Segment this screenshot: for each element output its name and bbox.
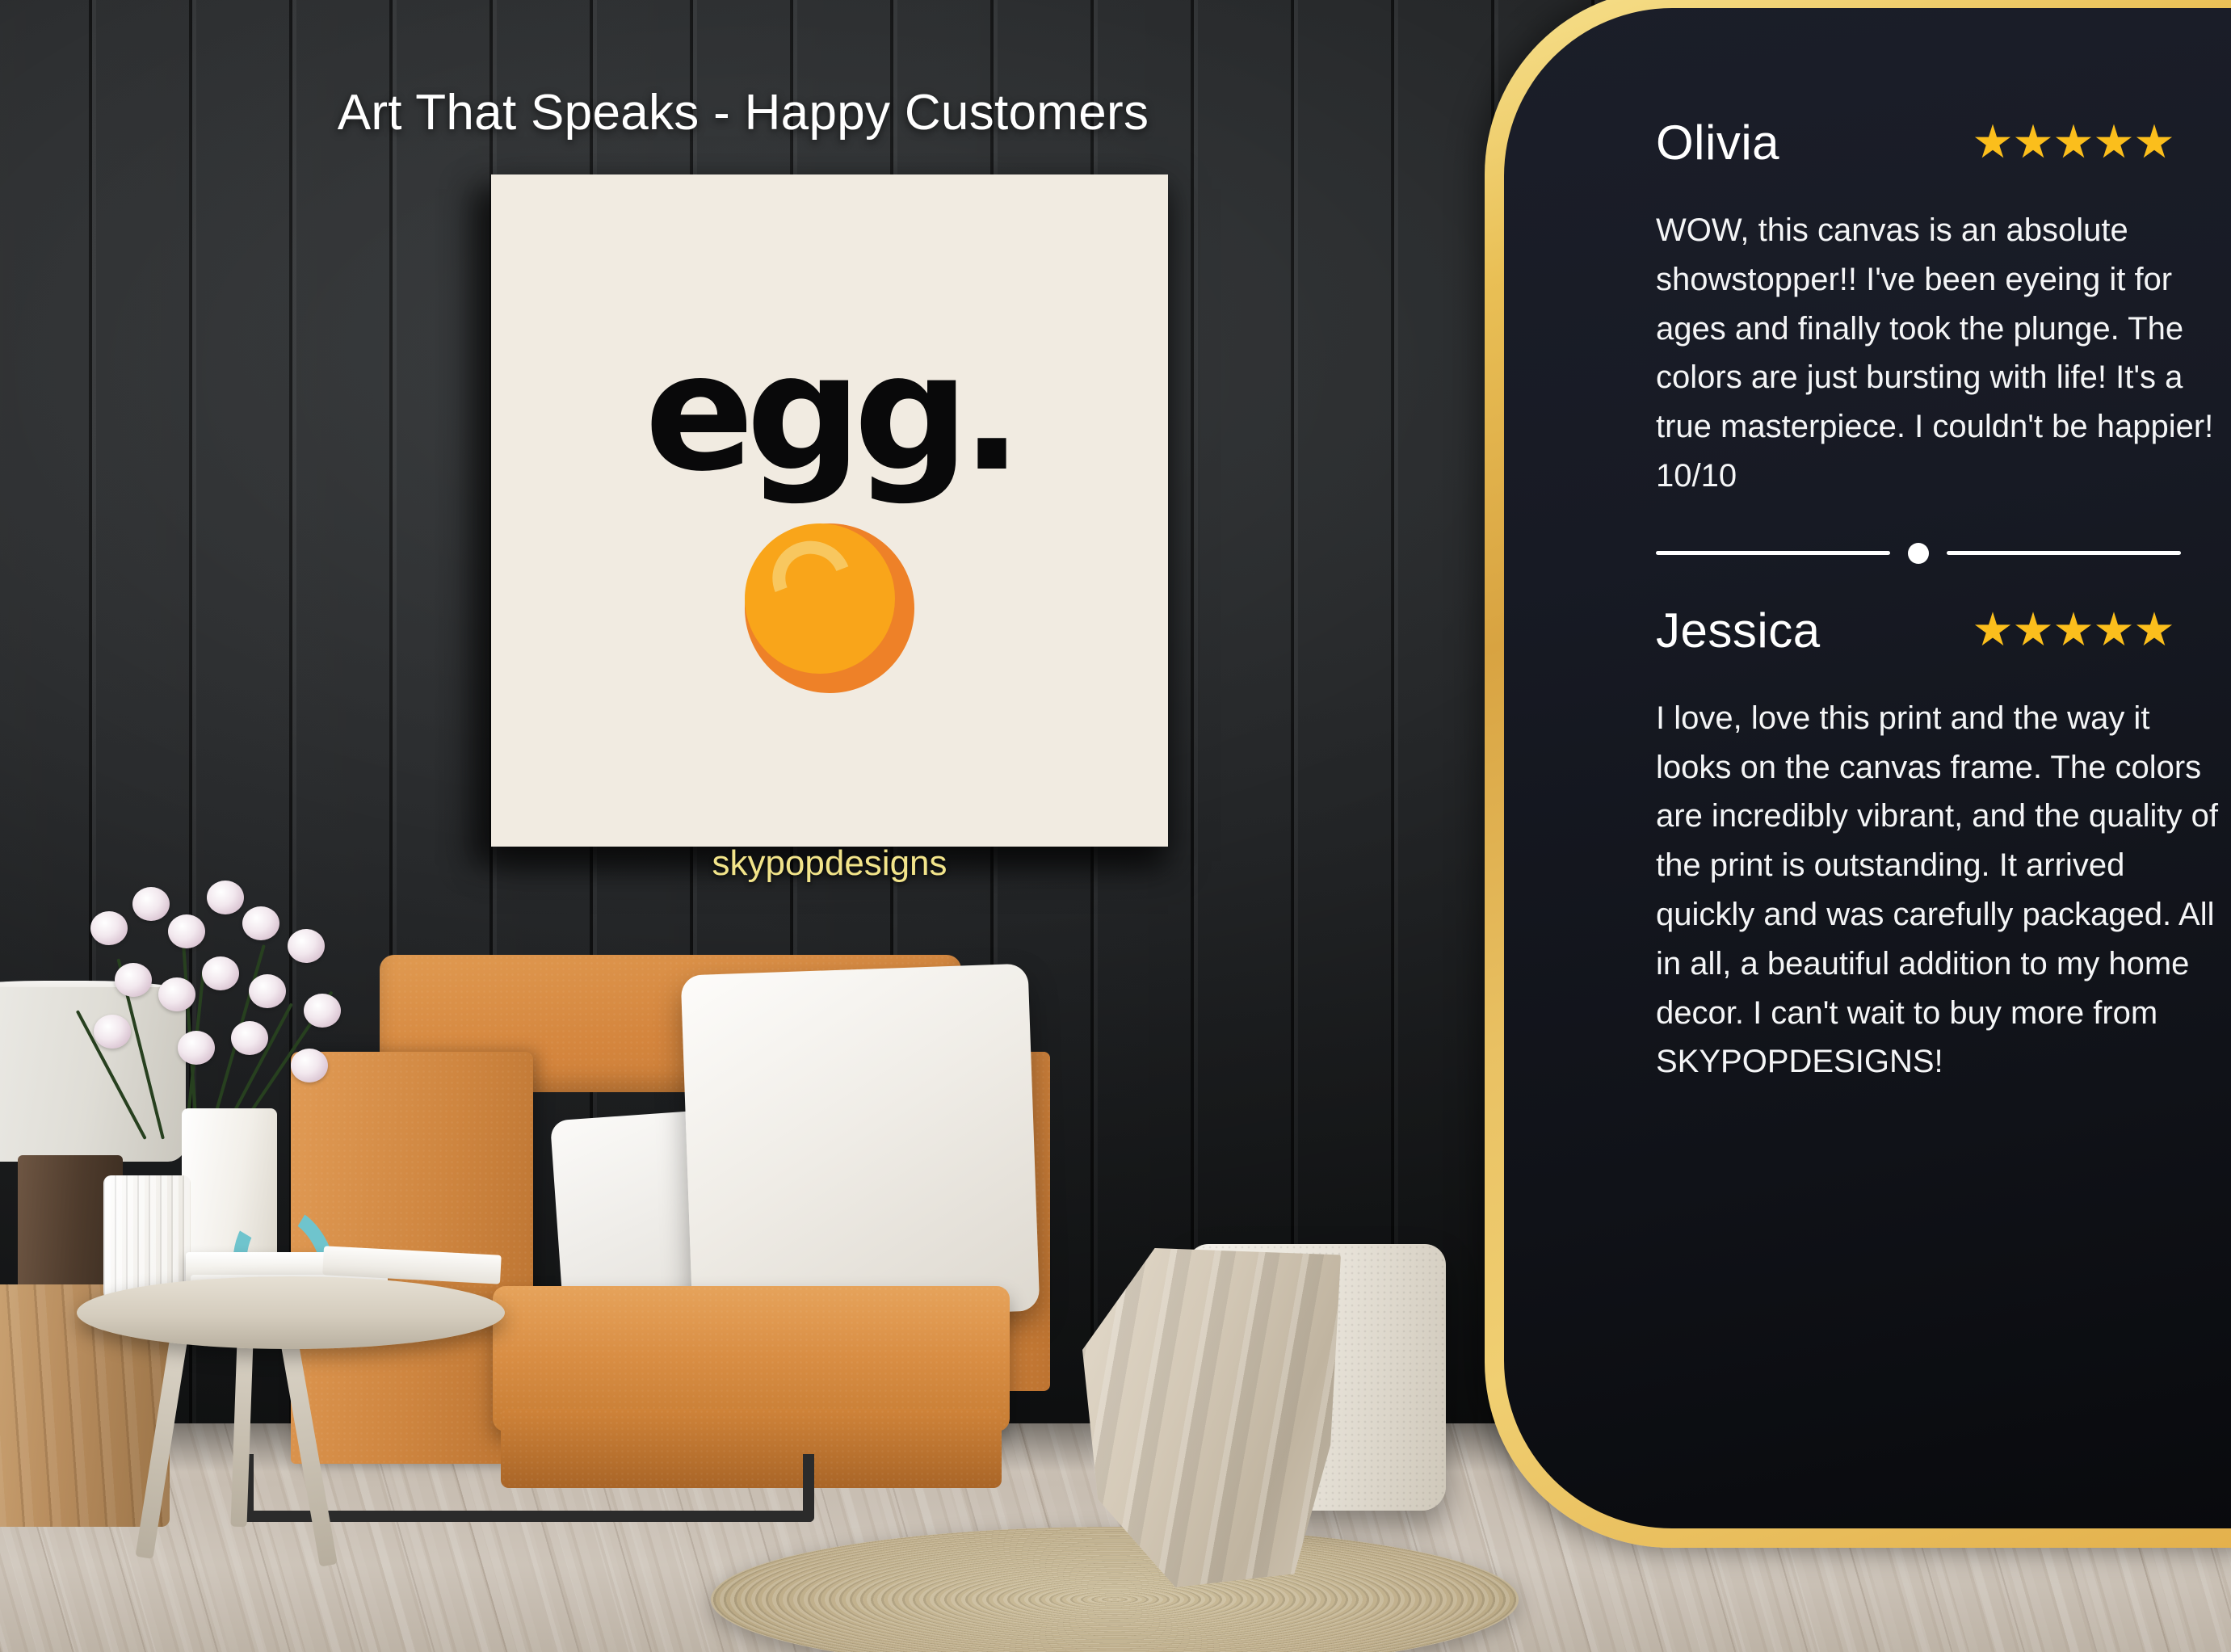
review-item: Olivia WOW, this canvas is an absolute s… <box>1656 115 2221 501</box>
flower-bloom <box>291 1049 328 1082</box>
flower-bloom <box>90 911 128 945</box>
star-icon <box>1974 124 2011 162</box>
canvas-artwork: egg. <box>491 174 1168 847</box>
review-card[interactable]: Olivia WOW, this canvas is an absolute s… <box>1504 8 2231 1528</box>
divider-line-left <box>1656 551 1890 555</box>
star-icon <box>2095 124 2132 162</box>
promo-graphic: Art That Speaks - Happy Customers egg. s… <box>0 0 2231 1652</box>
flower-bloom <box>304 994 341 1028</box>
artwork-word: egg. <box>491 333 1168 494</box>
flower-bloom <box>115 963 152 997</box>
flower-bloom <box>231 1021 268 1055</box>
star-icon <box>1974 612 2011 649</box>
review-header: Jessica <box>1656 603 2173 658</box>
review-item: Jessica I love, love this print and the … <box>1656 603 2221 1087</box>
star-icon <box>2055 124 2092 162</box>
flower-bloom <box>242 906 279 940</box>
flower-arrangement <box>48 872 388 1139</box>
brand-watermark: skypopdesigns <box>491 843 1168 884</box>
star-icon <box>2015 612 2052 649</box>
flower-bloom <box>288 929 325 963</box>
flower-bloom <box>207 881 244 914</box>
star-icon <box>2055 612 2092 649</box>
star-icon <box>2015 124 2052 162</box>
flower-bloom <box>158 977 195 1011</box>
divider-dot <box>1908 543 1929 564</box>
page-title: Art That Speaks - Happy Customers <box>0 84 1486 141</box>
flower-bloom <box>202 956 239 990</box>
flower-bloom <box>132 887 170 921</box>
flower-bloom <box>178 1031 215 1065</box>
flower-bloom <box>249 974 286 1008</box>
star-icon <box>2136 612 2173 649</box>
leather-armchair-front <box>291 955 1050 1488</box>
review-text: I love, love this print and the way it l… <box>1656 694 2221 1087</box>
review-header: Olivia <box>1656 115 2173 170</box>
reviewer-name: Jessica <box>1656 603 1821 658</box>
divider-line-right <box>1947 551 2181 555</box>
flower-bloom <box>168 914 205 948</box>
rating-stars <box>1974 612 2173 649</box>
review-divider <box>1656 543 2181 564</box>
review-text: WOW, this canvas is an absolute showstop… <box>1656 206 2221 501</box>
egg-yolk-graphic <box>745 523 914 693</box>
star-icon <box>2095 612 2132 649</box>
review-card-gold-border: Olivia WOW, this canvas is an absolute s… <box>1485 0 2231 1548</box>
star-icon <box>2136 124 2173 162</box>
side-table-top <box>77 1276 505 1349</box>
review-list: Olivia WOW, this canvas is an absolute s… <box>1656 115 2221 1087</box>
flower-bloom <box>94 1015 131 1049</box>
rating-stars <box>1974 124 2173 162</box>
reviewer-name: Olivia <box>1656 115 1779 170</box>
